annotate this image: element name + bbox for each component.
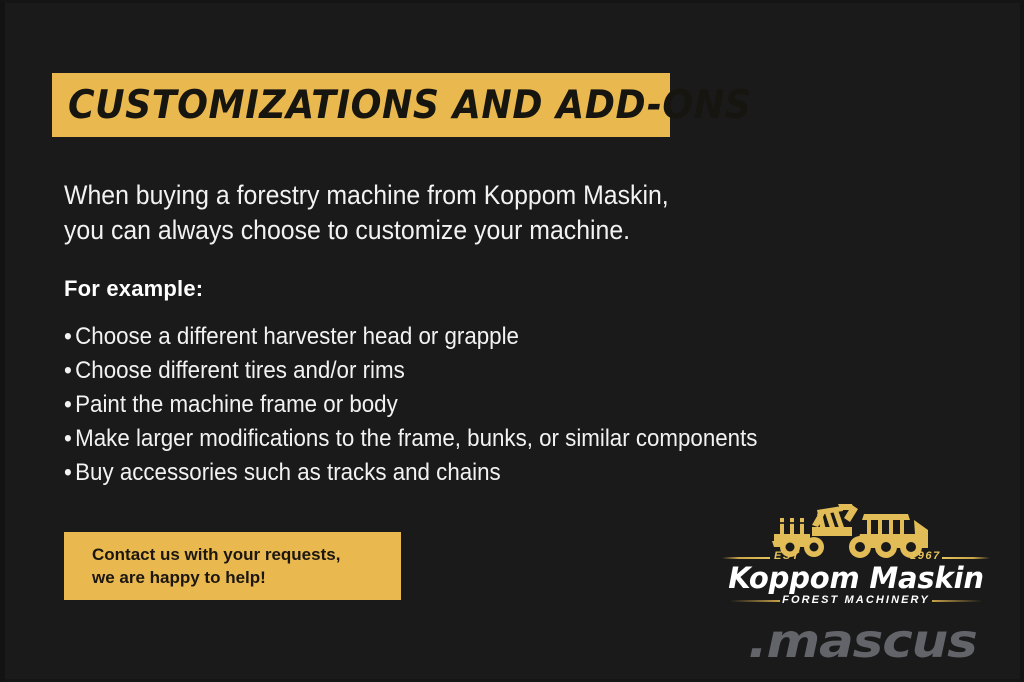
list-item-label: Make larger modifications to the frame, …: [75, 425, 757, 452]
contact-callout-box[interactable]: Contact us with your requests, we are ha…: [64, 532, 401, 600]
title-banner: CUSTOMIZATIONS AND ADD-ONS: [52, 73, 670, 137]
customization-list: •Choose a different harvester head or gr…: [64, 322, 864, 492]
list-item-label: Buy accessories such as tracks and chain…: [75, 459, 501, 486]
logo-tagline-rule-right: [932, 600, 982, 602]
contact-line-1: Contact us with your requests,: [92, 543, 401, 566]
list-item: •Make larger modifications to the frame,…: [64, 424, 808, 458]
bullet-icon: •: [64, 424, 75, 454]
list-item-label: Choose a different harvester head or gra…: [75, 323, 519, 350]
mascus-watermark: .mascus: [748, 614, 977, 668]
bullet-icon: •: [64, 458, 75, 488]
advertisement-slide: CUSTOMIZATIONS AND ADD-ONS When buying a…: [0, 0, 1024, 682]
page-title: CUSTOMIZATIONS AND ADD-ONS: [68, 83, 751, 128]
list-item: •Choose different tires and/or rims: [64, 356, 808, 390]
list-item: •Choose a different harvester head or gr…: [64, 322, 808, 356]
logo-rule-left: [722, 557, 770, 559]
for-example-heading: For example:: [64, 276, 203, 302]
bullet-icon: •: [64, 390, 75, 420]
koppom-maskin-logo: EST 1967 Koppom Maskin FOREST MACHINERY: [722, 500, 990, 610]
list-item: •Paint the machine frame or body: [64, 390, 808, 424]
list-item: •Buy accessories such as tracks and chai…: [64, 458, 808, 492]
intro-line-1: When buying a forestry machine from Kopp…: [64, 178, 763, 213]
contact-line-2: we are happy to help!: [92, 566, 401, 589]
bullet-icon: •: [64, 356, 75, 386]
intro-line-2: you can always choose to customize your …: [64, 213, 763, 248]
logo-rule-right: [942, 557, 990, 559]
list-item-label: Choose different tires and/or rims: [75, 357, 405, 384]
bullet-icon: •: [64, 322, 75, 352]
intro-paragraph: When buying a forestry machine from Kopp…: [64, 178, 763, 248]
list-item-label: Paint the machine frame or body: [75, 391, 398, 418]
logo-brand-name: Koppom Maskin: [722, 561, 990, 595]
